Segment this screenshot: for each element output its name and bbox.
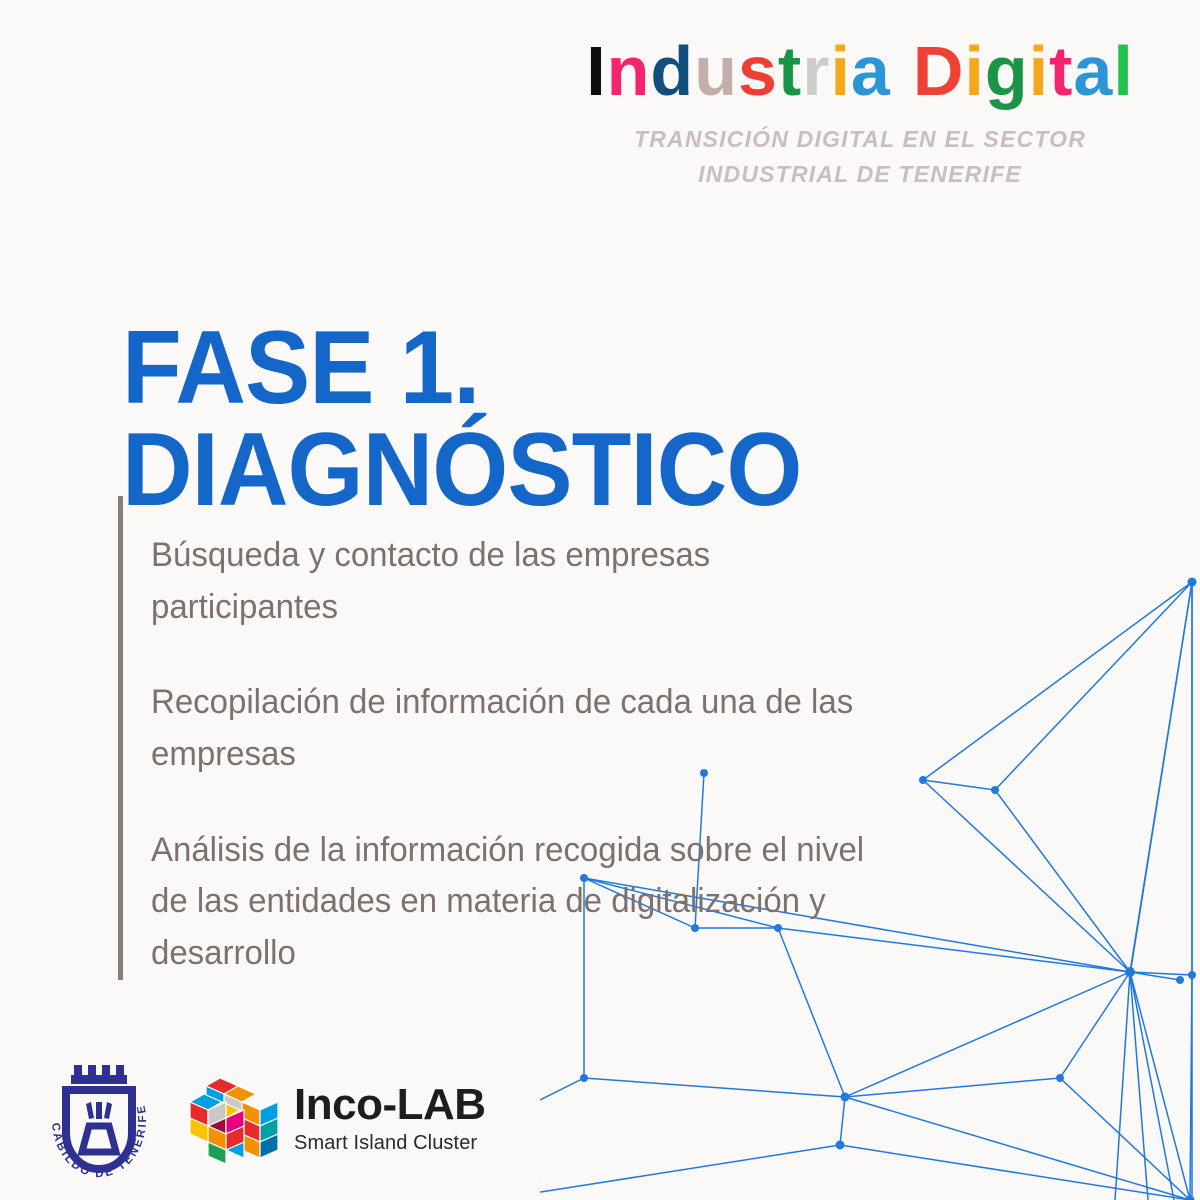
industria-digital-wordmark: IndustriaDigital: [0, 36, 1200, 106]
incolab-tagline: Smart Island Cluster: [294, 1133, 486, 1153]
wordmark-letter: I: [586, 32, 606, 110]
wordmark-letter: t: [1049, 32, 1073, 110]
wordmark-letter: g: [985, 32, 1029, 110]
cabildo-de-tenerife-logo: CABILDO DE TENERIFE: [34, 1048, 164, 1188]
page-title: FASE 1. DIAGNÓSTICO: [122, 318, 893, 522]
brand-subtitle-line-2: INDUSTRIAL DE TENERIFE: [520, 157, 1200, 192]
wordmark-letter: a: [851, 32, 891, 110]
wordmark-letter: a: [1073, 32, 1113, 110]
wordmark-letter: r: [802, 32, 830, 110]
brand-subtitle: TRANSICIÓN DIGITAL EN EL SECTOR INDUSTRI…: [0, 122, 1200, 191]
incolab-logo: Inco-LAB Smart Island Cluster: [190, 1072, 486, 1164]
incolab-cube-icon: [190, 1072, 282, 1164]
page-title-line-1: FASE 1.: [122, 318, 893, 420]
wordmark-letter: n: [607, 32, 651, 110]
wordmark-letter: D: [913, 32, 965, 110]
list-item: Búsqueda y contacto de las empresas part…: [151, 530, 876, 633]
wordmark-letter: i: [964, 32, 984, 110]
footer-logos: CABILDO DE TENERIFE: [34, 1048, 486, 1188]
wordmark-letter: s: [738, 32, 778, 110]
phase-description-list: Búsqueda y contacto de las empresas part…: [118, 496, 898, 980]
brand-subtitle-line-1: TRANSICIÓN DIGITAL EN EL SECTOR: [520, 122, 1200, 157]
list-item: Análisis de la información recogida sobr…: [151, 825, 876, 980]
wordmark-letter: d: [650, 32, 694, 110]
wordmark-letter: l: [1113, 32, 1133, 110]
wordmark-letter: u: [694, 32, 738, 110]
teide-motif: [82, 1102, 116, 1152]
wordmark-letter: t: [778, 32, 802, 110]
incolab-name: Inco-LAB: [294, 1083, 486, 1127]
list-item: Recopilación de información de cada una …: [151, 677, 876, 780]
crown-icon: [71, 1065, 127, 1084]
wordmark-letter: i: [830, 32, 850, 110]
wordmark-letter: i: [1029, 32, 1049, 110]
brand-header: IndustriaDigital TRANSICIÓN DIGITAL EN E…: [0, 36, 1200, 191]
incolab-text: Inco-LAB Smart Island Cluster: [294, 1083, 486, 1153]
